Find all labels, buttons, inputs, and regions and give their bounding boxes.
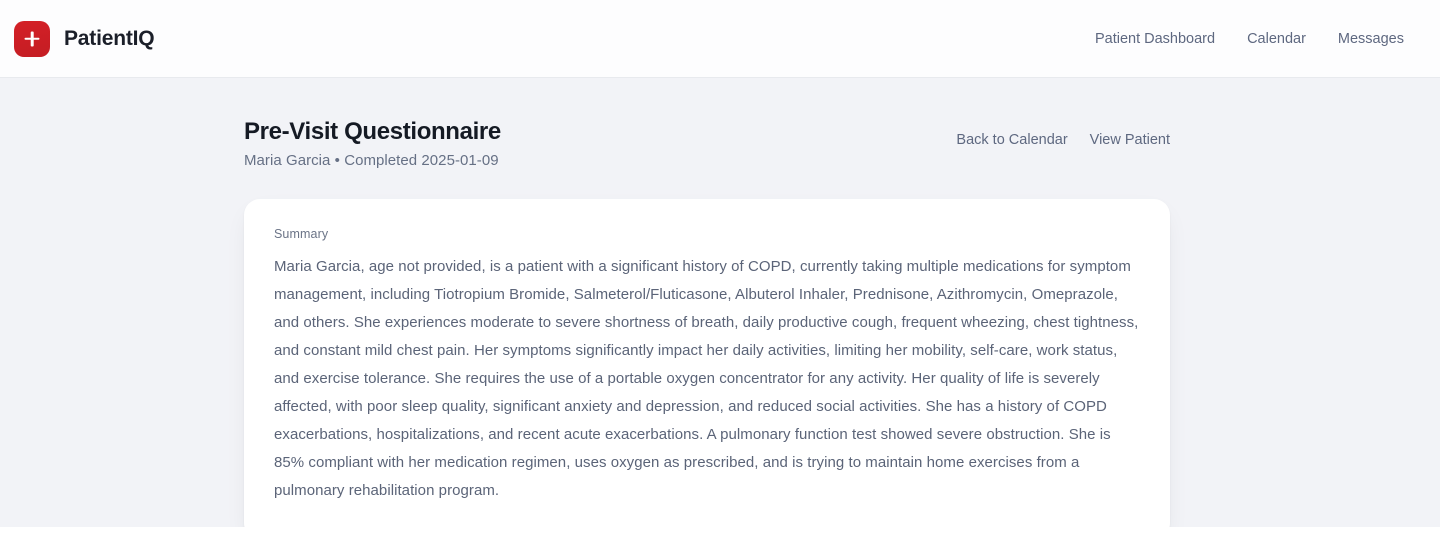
nav-item-messages[interactable]: Messages bbox=[1338, 31, 1404, 47]
main-nav: Patient Dashboard Calendar Messages bbox=[1095, 31, 1404, 47]
page-container: Pre-Visit Questionnaire Maria Garcia • C… bbox=[0, 78, 1440, 527]
content-area: Pre-Visit Questionnaire Maria Garcia • C… bbox=[0, 78, 1440, 527]
plus-icon bbox=[14, 21, 50, 57]
nav-item-patient-dashboard[interactable]: Patient Dashboard bbox=[1095, 31, 1215, 47]
nav-item-calendar[interactable]: Calendar bbox=[1247, 31, 1306, 47]
brand-logo[interactable]: PatientIQ bbox=[14, 21, 154, 57]
summary-card: Summary Maria Garcia, age not provided, … bbox=[244, 199, 1170, 527]
page-header-actions: Back to Calendar View Patient bbox=[956, 118, 1170, 148]
page-header-text: Pre-Visit Questionnaire Maria Garcia • C… bbox=[244, 118, 956, 169]
view-patient-link[interactable]: View Patient bbox=[1090, 132, 1170, 148]
top-navigation-bar: PatientIQ Patient Dashboard Calendar Mes… bbox=[0, 0, 1440, 78]
page-footer-area bbox=[0, 527, 1440, 554]
brand-name: PatientIQ bbox=[64, 27, 154, 51]
back-to-calendar-link[interactable]: Back to Calendar bbox=[956, 132, 1067, 148]
summary-card-wrapper: Summary Maria Garcia, age not provided, … bbox=[0, 199, 1440, 527]
app-window: PatientIQ Patient Dashboard Calendar Mes… bbox=[0, 0, 1440, 554]
summary-text: Maria Garcia, age not provided, is a pat… bbox=[274, 253, 1140, 505]
page-header: Pre-Visit Questionnaire Maria Garcia • C… bbox=[0, 118, 1440, 169]
page-title: Pre-Visit Questionnaire bbox=[244, 118, 956, 146]
page-subtitle: Maria Garcia • Completed 2025-01-09 bbox=[244, 152, 956, 169]
summary-label: Summary bbox=[274, 227, 1140, 241]
